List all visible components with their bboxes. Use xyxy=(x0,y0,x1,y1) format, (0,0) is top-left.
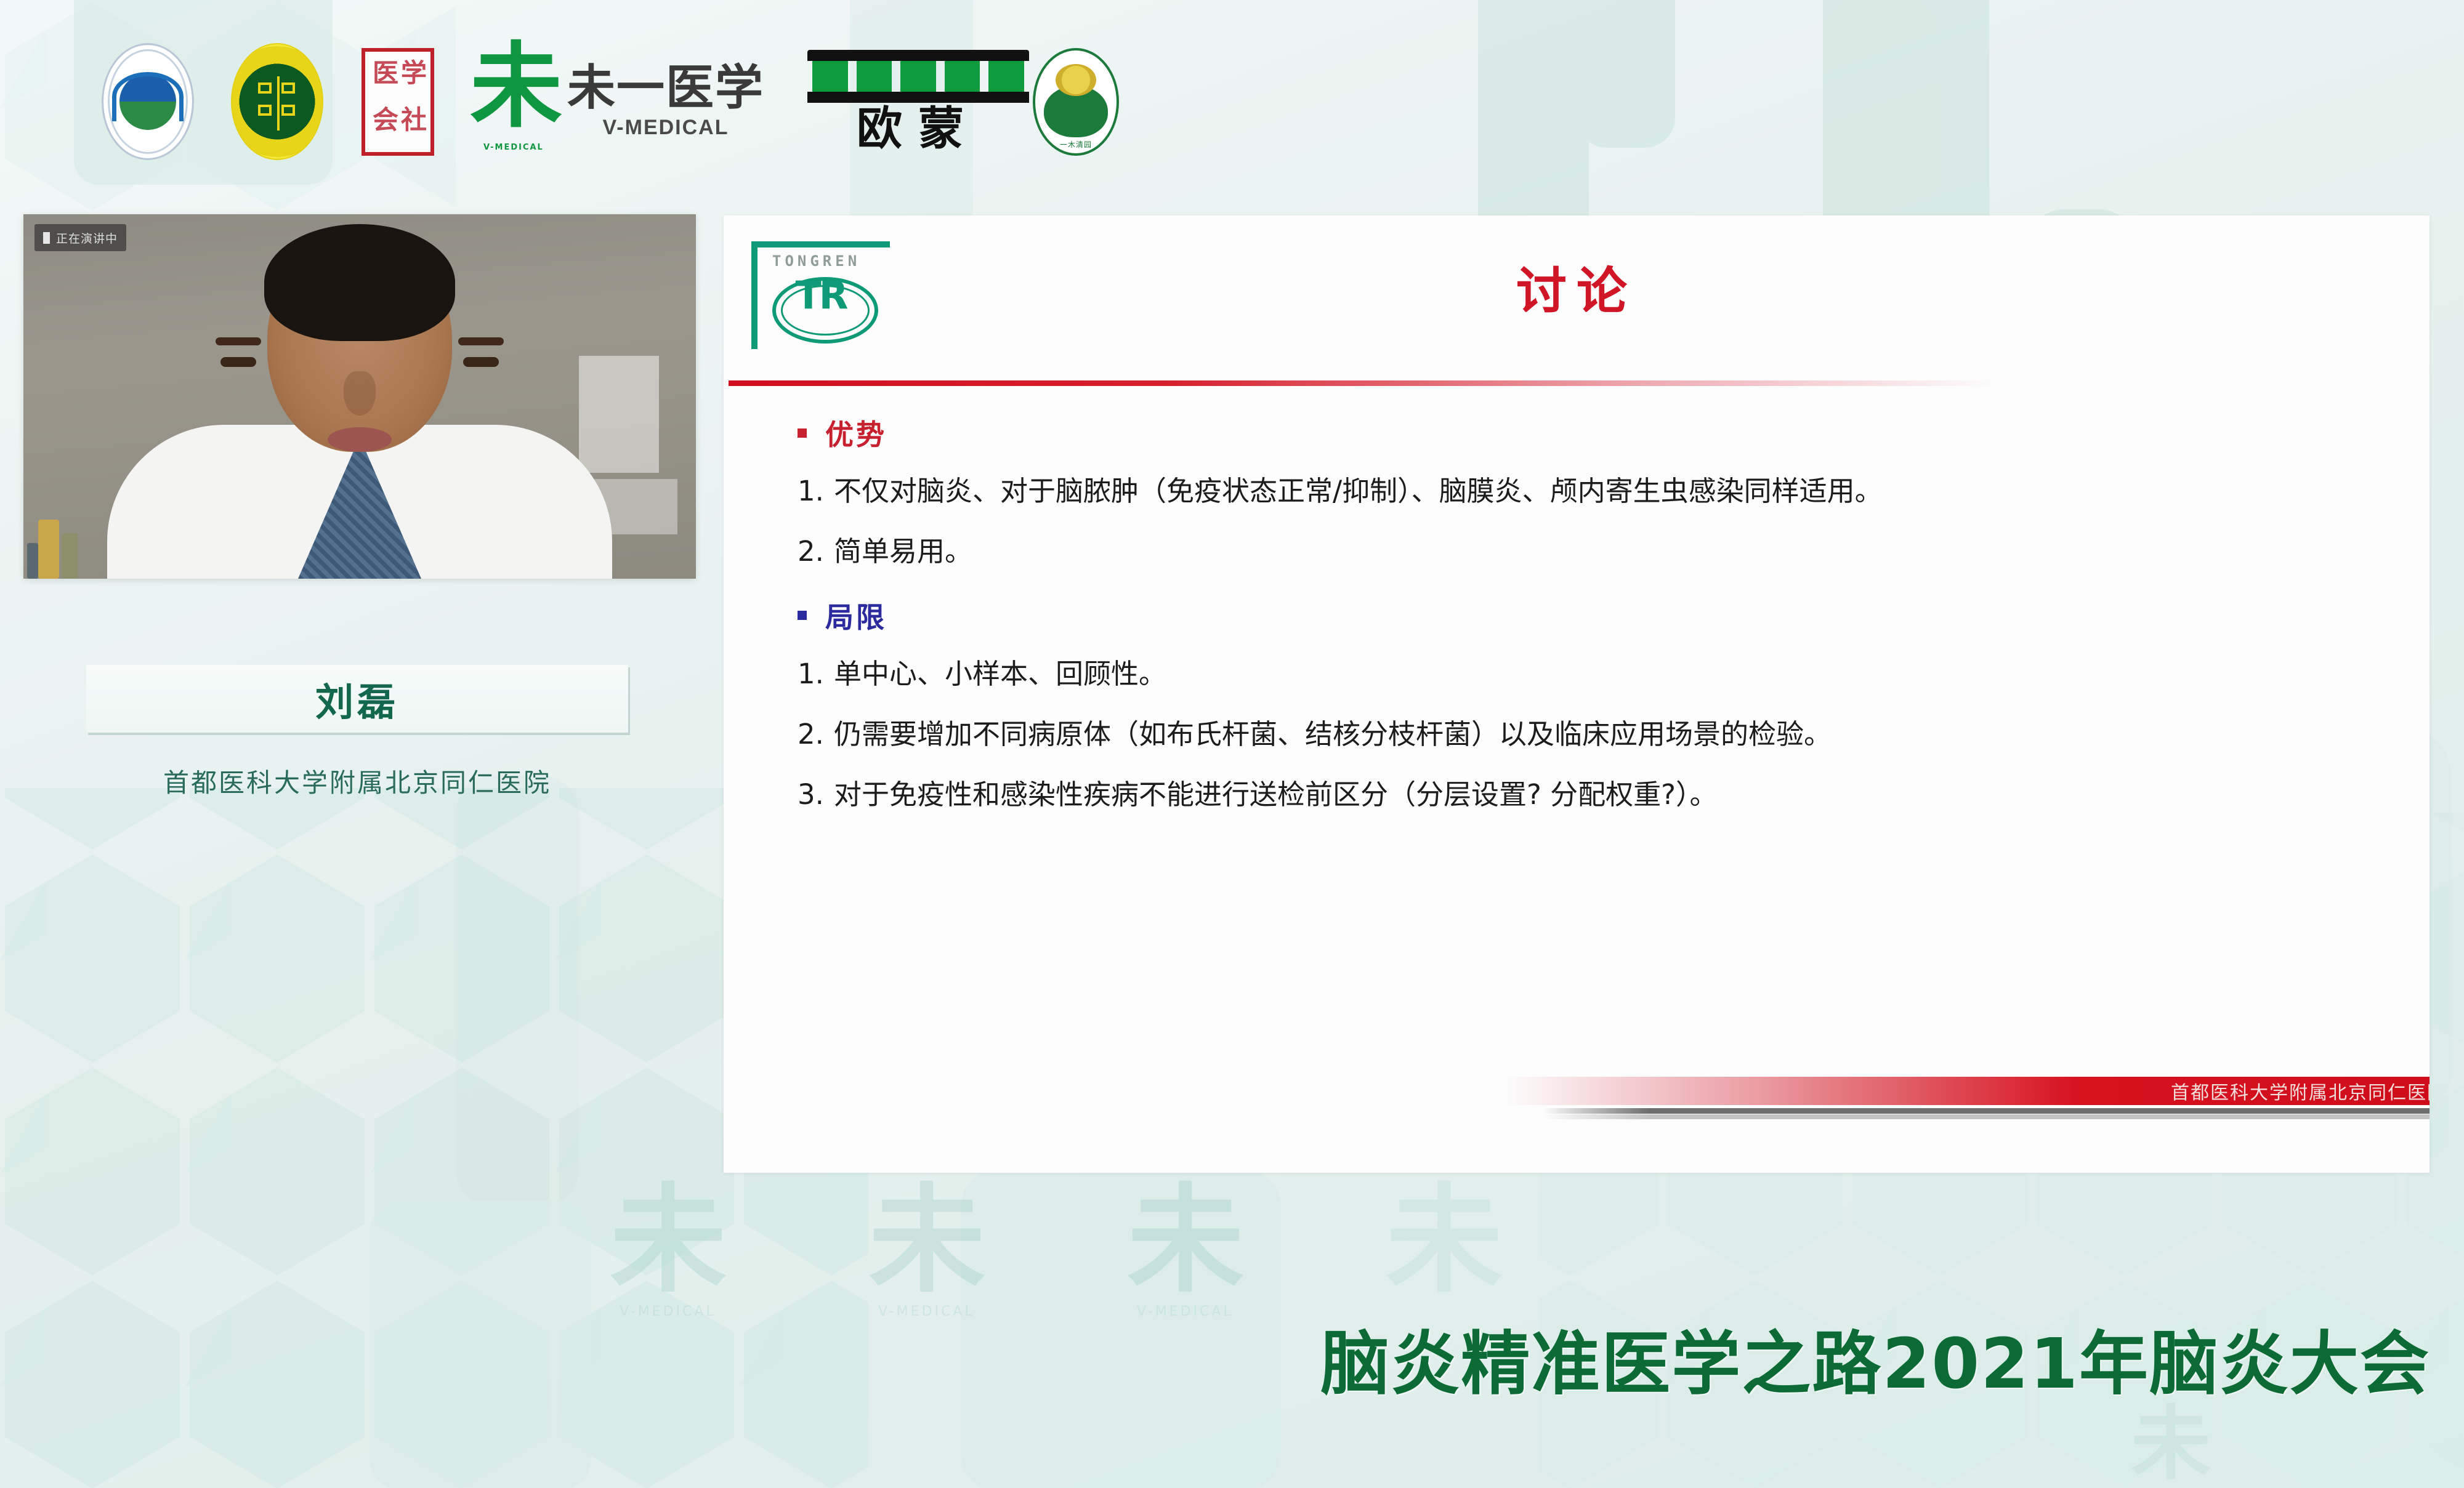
watermark-char: 未 xyxy=(868,1182,985,1299)
speaker-name-plate: 刘磊 xyxy=(86,665,628,733)
list-item-text: 简单易用。 xyxy=(834,534,972,569)
watermark-char: 未 xyxy=(610,1182,727,1299)
title-divider xyxy=(729,380,1997,386)
list-item-number: 2. xyxy=(798,534,824,569)
slide-footer-rule-light xyxy=(1543,1114,2430,1119)
video-status-badge: 正在演讲中 xyxy=(34,224,126,251)
list-item-text: 对于免疫性和感染性疾病不能进行送检前区分（分层设置? 分配权重?）。 xyxy=(834,778,1718,812)
logo-v-medical: 未 V-MEDICAL 未一医学 V-MEDICAL xyxy=(470,48,764,156)
conference-banner: 脑炎精准医学之路2021年脑炎大会 xyxy=(0,1308,2464,1408)
watermark-char: 未 xyxy=(1386,1182,1503,1299)
v-medical-cn-name: 未一医学 xyxy=(567,64,764,112)
list-item: 2. 简单易用。 xyxy=(798,534,2393,569)
v-medical-mark-icon: 未 V-MEDICAL xyxy=(470,48,556,156)
speaking-indicator-icon xyxy=(43,232,50,244)
euroimmun-cn-name: 欧蒙 xyxy=(807,105,1029,153)
seal-char: 学 xyxy=(401,60,427,86)
logo-euroimmun: 欧蒙 xyxy=(807,50,1029,153)
slide-footer-bar: 首都医科大学附属北京同仁医院 xyxy=(1506,1077,2430,1105)
video-frame xyxy=(23,214,696,579)
seal-char: 医 xyxy=(373,60,398,86)
v-medical-mark-sub: V-MEDICAL xyxy=(483,143,544,152)
seal-char: 社 xyxy=(401,107,427,133)
speaker-video[interactable]: 正在演讲中 xyxy=(23,214,696,579)
speaker-affiliation: 首都医科大学附属北京同仁医院 xyxy=(86,762,628,800)
section-heading-advantages: 优势 xyxy=(798,412,2393,453)
section-advantages: 优势 1. 不仅对脑炎、对于脑脓肿（免疫状态正常/抑制）、脑膜炎、颅内寄生虫感染… xyxy=(798,412,2393,569)
v-medical-mark-char: 未 xyxy=(470,41,562,133)
section-limitations: 局限 1. 单中心、小样本、回顾性。 2. 仍需要增加不同病原体（如布氏杆菌、结… xyxy=(798,595,2393,813)
tongren-logo-monogram: TR xyxy=(795,276,846,315)
v-medical-en-name: V-MEDICAL xyxy=(567,116,764,140)
logo-green-oval-seal: 一木清园 xyxy=(1033,48,1119,156)
square-bullet-icon xyxy=(798,611,807,620)
watermark-char: 未 xyxy=(1127,1182,1244,1299)
video-badge-label: 正在演讲中 xyxy=(56,230,118,246)
list-item-number: 2. xyxy=(798,717,824,752)
green-oval-caption: 一木清园 xyxy=(1035,139,1117,150)
logo-medical-association-seal xyxy=(231,43,323,160)
slide-footer-rule xyxy=(1543,1108,2430,1114)
sponsor-logo-bar: 医 学 会 社 未 V-MEDICAL 未一医学 V-MEDICAL 欧蒙 一木… xyxy=(0,0,2464,203)
slide-body: 优势 1. 不仅对脑炎、对于脑脓肿（免疫状态正常/抑制）、脑膜炎、颅内寄生虫感染… xyxy=(798,412,2393,838)
watermark-char: 未 xyxy=(2131,1404,2211,1484)
advantages-list: 1. 不仅对脑炎、对于脑脓肿（免疫状态正常/抑制）、脑膜炎、颅内寄生虫感染同样适… xyxy=(798,474,2393,569)
list-item-text: 仍需要增加不同病原体（如布氏杆菌、结核分枝杆菌）以及临床应用场景的检验。 xyxy=(834,717,1832,752)
list-item-number: 3. xyxy=(798,778,824,812)
euroimmun-roof-icon xyxy=(807,50,1029,103)
slide-footer-text: 首都医科大学附属北京同仁医院 xyxy=(2171,1077,2430,1104)
logo-red-square-seal: 医 学 会 社 xyxy=(362,48,434,156)
list-item-text: 不仅对脑炎、对于脑脓肿（免疫状态正常/抑制）、脑膜炎、颅内寄生虫感染同样适用。 xyxy=(834,474,1883,509)
list-item-number: 1. xyxy=(798,474,824,509)
presentation-slide[interactable]: TONGREN TR 讨论 优势 1. 不仅对脑炎、对于脑脓肿（免疫状态正常/抑… xyxy=(724,215,2430,1173)
list-item-number: 1. xyxy=(798,657,824,691)
limitations-list: 1. 单中心、小样本、回顾性。 2. 仍需要增加不同病原体（如布氏杆菌、结核分枝… xyxy=(798,657,2393,813)
square-bullet-icon xyxy=(798,428,807,438)
list-item: 3. 对于免疫性和感染性疾病不能进行送检前区分（分层设置? 分配权重?）。 xyxy=(798,778,2393,812)
speaker-name: 刘磊 xyxy=(315,671,399,726)
section-heading-label: 局限 xyxy=(825,595,887,636)
slide-title: 讨论 xyxy=(724,250,2430,323)
list-item-text: 单中心、小样本、回顾性。 xyxy=(834,657,1166,691)
list-item: 2. 仍需要增加不同病原体（如布氏杆菌、结核分枝杆菌）以及临床应用场景的检验。 xyxy=(798,717,2393,752)
list-item: 1. 不仅对脑炎、对于脑脓肿（免疫状态正常/抑制）、脑膜炎、颅内寄生虫感染同样适… xyxy=(798,474,2393,509)
section-heading-label: 优势 xyxy=(825,412,887,453)
logo-health-commission-seal xyxy=(102,43,194,160)
seal-char: 会 xyxy=(373,107,398,133)
list-item: 1. 单中心、小样本、回顾性。 xyxy=(798,657,2393,691)
section-heading-limitations: 局限 xyxy=(798,595,2393,636)
